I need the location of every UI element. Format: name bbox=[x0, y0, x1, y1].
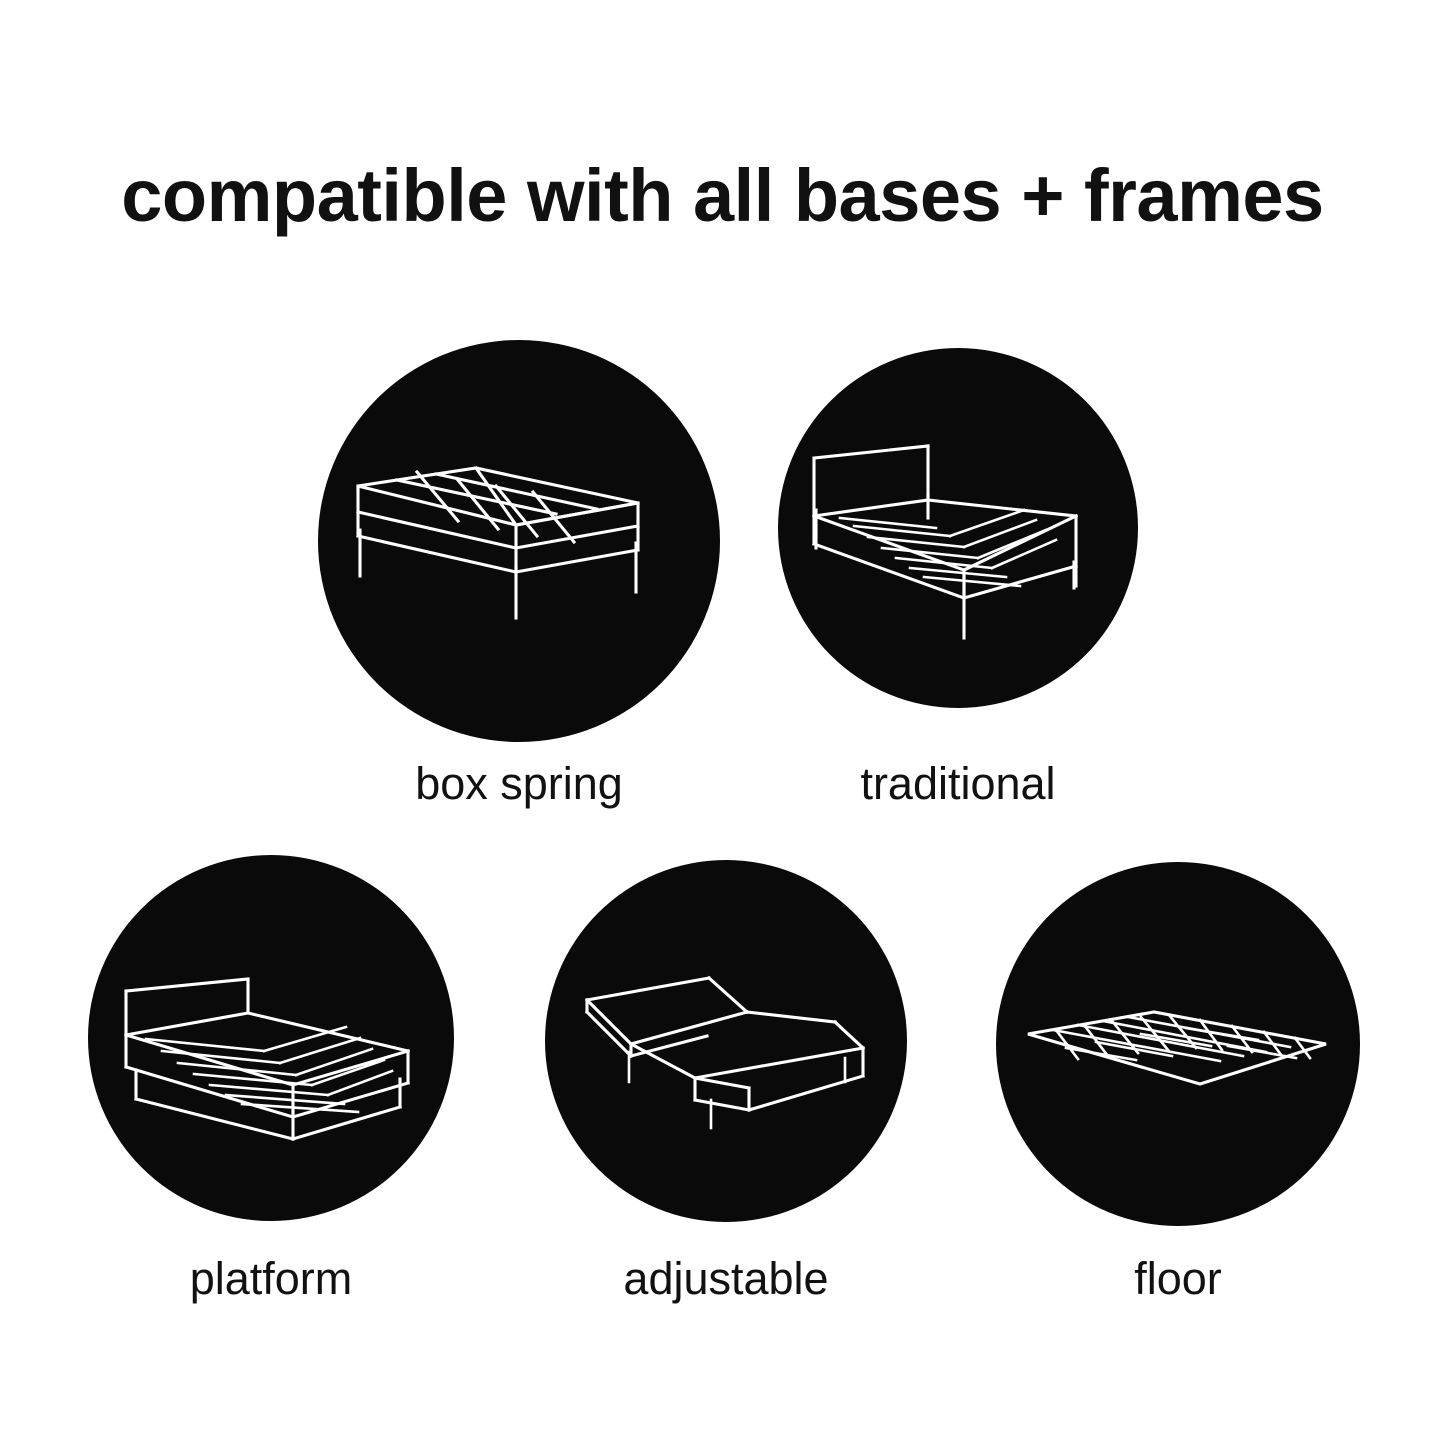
box-spring-base-icon bbox=[318, 340, 720, 742]
feature-item-platform: platform bbox=[88, 855, 454, 1221]
page-title: compatible with all bases + frames bbox=[0, 155, 1445, 236]
feature-label-box-spring: box spring bbox=[415, 758, 623, 810]
feature-item-box-spring: box spring bbox=[318, 340, 720, 742]
platform-bed-icon bbox=[88, 855, 454, 1221]
traditional-bed-frame-icon bbox=[778, 348, 1138, 708]
feature-label-adjustable: adjustable bbox=[623, 1253, 828, 1305]
adjustable-base-icon bbox=[545, 860, 907, 1222]
feature-item-traditional: traditional bbox=[778, 348, 1138, 708]
infographic-canvas: compatible with all bases + frames bbox=[0, 0, 1445, 1445]
feature-label-platform: platform bbox=[190, 1253, 353, 1305]
feature-item-adjustable: adjustable bbox=[545, 860, 907, 1222]
feature-label-floor: floor bbox=[1134, 1253, 1222, 1305]
floor-slats-icon bbox=[996, 862, 1360, 1226]
feature-item-floor: floor bbox=[996, 862, 1360, 1226]
feature-label-traditional: traditional bbox=[860, 758, 1055, 810]
